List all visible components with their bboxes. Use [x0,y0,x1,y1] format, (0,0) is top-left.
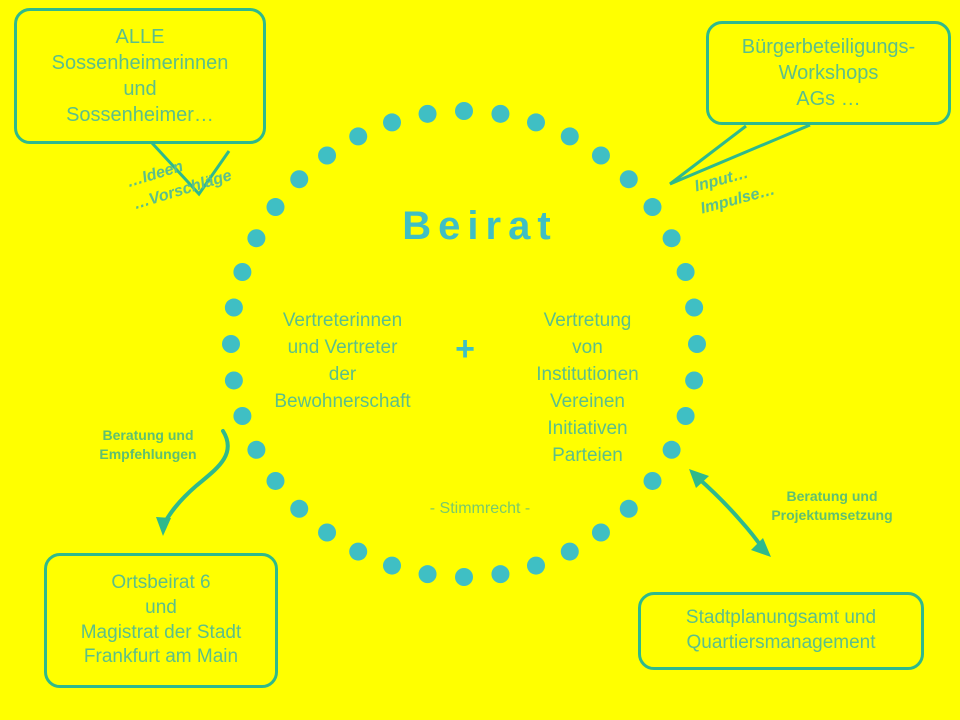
column-right-line-2: von [500,335,675,362]
ring-dot [620,170,638,188]
column-right-line-6: Parteien [500,443,675,470]
ring-dot [349,127,367,145]
bubble-stadtplanung-line-1: Stadtplanungsamt und [686,606,876,631]
bubble-alle-line-2: Sossenheimerinnen [52,50,229,76]
ring-dot [318,524,336,542]
column-right-line-3: Institutionen [500,362,675,389]
ring-dot [592,524,610,542]
bubble-stadtplanung-line-2: Quartiersmanagement [686,631,875,656]
annotation-beratung-empfehlungen: Beratung und Empfehlungen [78,426,218,464]
bubble-buergerbeteiligung: Bürgerbeteiligungs- Workshops AGs … [706,21,951,125]
bubble-alle-line-4: Sossenheimer… [66,102,214,128]
ring-dot [225,371,243,389]
ring-dot [222,335,240,353]
ring-dot [561,543,579,561]
bubble-alle-sossenheimer: ALLE Sossenheimerinnen und Sossenheimer… [14,8,266,144]
ring-dot [561,127,579,145]
ring-dot [233,263,251,281]
bubble-workshops-line-3: AGs … [796,86,860,112]
plus-icon: + [442,308,488,366]
ring-dot [677,263,695,281]
column-left-line-1: Vertreterinnen [255,308,430,335]
ring-dot [677,407,695,425]
ring-dot [644,472,662,490]
ring-dot [685,371,703,389]
column-left-line-3: der [255,362,430,389]
bubble-workshops-line-1: Bürgerbeteiligungs- [742,34,915,60]
column-bewohnerschaft: Vertreterinnen und Vertreter der Bewohne… [255,308,430,416]
ring-dot [455,102,473,120]
column-left-line-4: Bewohnerschaft [255,389,430,416]
ring-dot [225,299,243,317]
member-columns: Vertreterinnen und Vertreter der Bewohne… [255,308,675,470]
ring-dot [349,543,367,561]
annotation-beratung-projektumsetzung: Beratung und Projektumsetzung [742,487,922,525]
ring-dot [455,568,473,586]
ring-dot [233,407,251,425]
column-right-line-5: Initiativen [500,416,675,443]
bubble-ortsbeirat-line-4: Frankfurt am Main [84,645,238,670]
ring-dot [318,147,336,165]
diagram-canvas: Beirat Vertreterinnen und Vertreter der … [0,0,960,720]
bubble-alle-line-3: und [123,76,156,102]
column-institutionen: Vertretung von Institutionen Vereinen In… [500,308,675,470]
bubble-alle-line-1: ALLE [116,24,165,50]
annotation-beratung-projekt-line-1: Beratung und [742,487,922,506]
annotation-beratung-empfehlungen-line-2: Empfehlungen [78,445,218,464]
ring-dot [491,105,509,123]
ring-dot [383,113,401,131]
ring-dot [688,335,706,353]
ring-dot [592,147,610,165]
box-stadtplanungsamt: Stadtplanungsamt und Quartiersmanagement [638,592,924,670]
ring-dot [383,557,401,575]
ring-dot [527,113,545,131]
ring-dot [527,557,545,575]
ring-dot [290,170,308,188]
ring-dot [685,299,703,317]
bubble-workshops-line-2: Workshops [779,60,879,86]
column-right-line-1: Vertretung [500,308,675,335]
column-right-line-4: Vereinen [500,389,675,416]
box-ortsbeirat-magistrat: Ortsbeirat 6 und Magistrat der Stadt Fra… [44,553,278,688]
column-left-line-2: und Vertreter [255,335,430,362]
bubble-ortsbeirat-line-2: und [145,596,177,621]
bubble-ortsbeirat-line-1: Ortsbeirat 6 [111,571,210,596]
annotation-beratung-empfehlungen-line-1: Beratung und [78,426,218,445]
annotation-beratung-projekt-line-2: Projektumsetzung [742,506,922,525]
ring-dot [419,565,437,583]
ring-dot [419,105,437,123]
ring-dot [491,565,509,583]
bubble-ortsbeirat-line-3: Magistrat der Stadt [81,621,242,646]
ring-dot [267,472,285,490]
